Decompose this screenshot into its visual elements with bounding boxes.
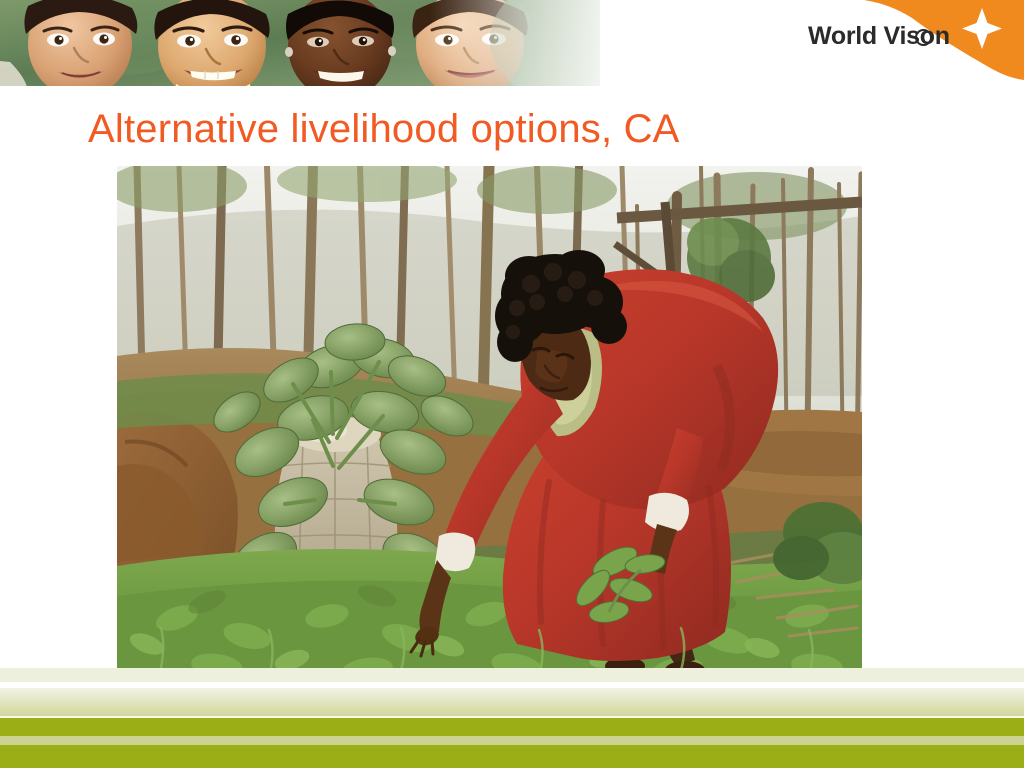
slide-canvas: World Vison Alternative livelihood optio… [0, 0, 1024, 768]
olive-band-upper [0, 718, 1024, 736]
logo-word-world: World [808, 22, 877, 50]
world-vision-logo: World Vison [794, 0, 1024, 80]
decorative-stripe-bands [0, 668, 1024, 768]
olive-band-lower [0, 745, 1024, 768]
page-title: Alternative livelihood options, CA [88, 105, 948, 153]
circled-i-dot [915, 29, 932, 46]
gradient-khaki-band [0, 688, 1024, 716]
cream-band [0, 668, 1024, 682]
header-banner: World Vison [0, 0, 1024, 86]
khaki-band [0, 736, 1024, 745]
children-faces-photo-banner [0, 0, 600, 86]
woman-tending-garden-photo [117, 166, 862, 682]
